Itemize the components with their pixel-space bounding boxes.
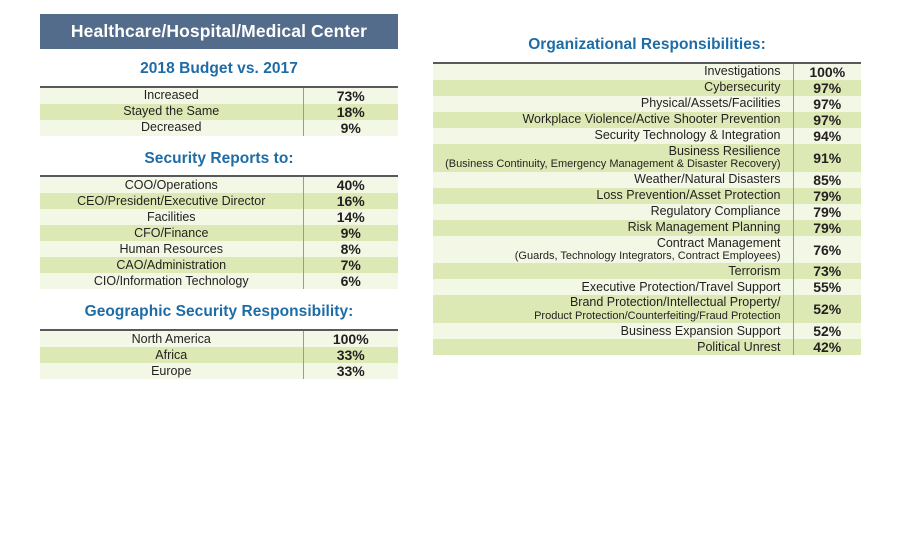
table-row: Workplace Violence/Active Shooter Preven… — [433, 112, 861, 128]
table-row: Executive Protection/Travel Support55% — [433, 279, 861, 295]
row-label-subtext: (Guards, Technology Integrators, Contrac… — [433, 250, 781, 263]
row-value: 7% — [303, 257, 398, 273]
row-label-text: Increased — [144, 88, 199, 102]
row-value: 9% — [303, 225, 398, 241]
row-value: 52% — [793, 323, 861, 339]
row-label-text: Loss Prevention/Asset Protection — [596, 188, 780, 202]
row-label: Weather/Natural Disasters — [433, 172, 793, 188]
row-value: 73% — [793, 263, 861, 279]
row-label-text: Business Resilience — [669, 144, 781, 158]
data-table: North America100%Africa33%Europe33% — [40, 329, 398, 379]
row-label: Cybersecurity — [433, 80, 793, 96]
row-value: 55% — [793, 279, 861, 295]
right-column: Organizational Responsibilities:Investig… — [433, 22, 861, 355]
row-label: Political Unrest — [433, 339, 793, 355]
row-value: 33% — [303, 347, 398, 363]
table-row: Brand Protection/Intellectual Property/P… — [433, 295, 861, 323]
row-label-text: Africa — [155, 348, 187, 362]
section: 2018 Budget vs. 2017Increased73%Stayed t… — [40, 60, 398, 136]
table-row: Human Resources8% — [40, 241, 398, 257]
row-label-text: Investigations — [704, 64, 780, 78]
table-row: Risk Management Planning79% — [433, 220, 861, 236]
row-label: Executive Protection/Travel Support — [433, 279, 793, 295]
row-label: North America — [40, 330, 303, 347]
row-label: Facilities — [40, 209, 303, 225]
row-value: 40% — [303, 176, 398, 193]
row-label: CEO/President/Executive Director — [40, 193, 303, 209]
table-row: CFO/Finance9% — [40, 225, 398, 241]
table-row: Stayed the Same18% — [40, 104, 398, 120]
row-label-text: Contract Management — [657, 236, 781, 250]
row-label: Physical/Assets/Facilities — [433, 96, 793, 112]
row-label-text: COO/Operations — [125, 178, 218, 192]
row-value: 91% — [793, 144, 861, 172]
row-value: 79% — [793, 188, 861, 204]
row-label-text: Physical/Assets/Facilities — [641, 96, 781, 110]
row-label: Business Resilience(Business Continuity,… — [433, 144, 793, 172]
table-row: Business Resilience(Business Continuity,… — [433, 144, 861, 172]
table-row: North America100% — [40, 330, 398, 347]
table-row: CAO/Administration7% — [40, 257, 398, 273]
row-label: Europe — [40, 363, 303, 379]
section: Organizational Responsibilities:Investig… — [433, 36, 861, 355]
row-value: 6% — [303, 273, 398, 289]
section-heading: Organizational Responsibilities: — [433, 36, 861, 55]
row-value: 52% — [793, 295, 861, 323]
row-value: 18% — [303, 104, 398, 120]
row-label: CAO/Administration — [40, 257, 303, 273]
row-label-text: CAO/Administration — [116, 258, 226, 272]
right-sections-container: Organizational Responsibilities:Investig… — [433, 36, 861, 355]
row-label: Terrorism — [433, 263, 793, 279]
row-value: 16% — [303, 193, 398, 209]
table-row: Europe33% — [40, 363, 398, 379]
row-label-text: Workplace Violence/Active Shooter Preven… — [522, 112, 780, 126]
row-label: Investigations — [433, 63, 793, 80]
section: Security Reports to:COO/Operations40%CEO… — [40, 150, 398, 290]
table-row: CEO/President/Executive Director16% — [40, 193, 398, 209]
row-label-text: Europe — [151, 364, 191, 378]
row-value: 8% — [303, 241, 398, 257]
row-value: 97% — [793, 96, 861, 112]
table-row: CIO/Information Technology6% — [40, 273, 398, 289]
left-sections-container: 2018 Budget vs. 2017Increased73%Stayed t… — [40, 60, 398, 379]
table-row: Loss Prevention/Asset Protection79% — [433, 188, 861, 204]
row-value: 94% — [793, 128, 861, 144]
row-label-text: Human Resources — [119, 242, 223, 256]
row-label-text: CIO/Information Technology — [94, 274, 249, 288]
row-label-text: Political Unrest — [697, 340, 780, 354]
row-label: Regulatory Compliance — [433, 204, 793, 220]
table-row: Political Unrest42% — [433, 339, 861, 355]
row-label-text: CFO/Finance — [134, 226, 208, 240]
row-label-text: Facilities — [147, 210, 196, 224]
row-label: Risk Management Planning — [433, 220, 793, 236]
table-row: Weather/Natural Disasters85% — [433, 172, 861, 188]
data-table: COO/Operations40%CEO/President/Executive… — [40, 175, 398, 289]
table-row: Africa33% — [40, 347, 398, 363]
data-table: Investigations100%Cybersecurity97%Physic… — [433, 62, 861, 356]
row-label-text: Stayed the Same — [123, 104, 219, 118]
row-label-text: Weather/Natural Disasters — [634, 172, 780, 186]
table-row: Business Expansion Support52% — [433, 323, 861, 339]
section-heading: 2018 Budget vs. 2017 — [40, 60, 398, 79]
section-heading: Security Reports to: — [40, 150, 398, 169]
row-value: 100% — [793, 63, 861, 80]
row-label-subtext: (Business Continuity, Emergency Manageme… — [433, 158, 781, 171]
row-value: 85% — [793, 172, 861, 188]
row-label-text: CEO/President/Executive Director — [77, 194, 265, 208]
row-label-text: Cybersecurity — [704, 80, 780, 94]
row-label: COO/Operations — [40, 176, 303, 193]
row-label-text: Brand Protection/Intellectual Property/ — [570, 295, 781, 309]
row-label-text: Risk Management Planning — [628, 220, 781, 234]
table-row: Cybersecurity97% — [433, 80, 861, 96]
row-value: 79% — [793, 204, 861, 220]
row-label: Business Expansion Support — [433, 323, 793, 339]
row-value: 73% — [303, 87, 398, 104]
row-value: 9% — [303, 120, 398, 136]
section-heading: Geographic Security Responsibility: — [40, 303, 398, 322]
row-label: Security Technology & Integration — [433, 128, 793, 144]
table-row: Increased73% — [40, 87, 398, 104]
row-label-text: North America — [132, 332, 211, 346]
row-value: 97% — [793, 112, 861, 128]
row-label-text: Decreased — [141, 120, 201, 134]
row-label: CFO/Finance — [40, 225, 303, 241]
table-row: COO/Operations40% — [40, 176, 398, 193]
row-value: 100% — [303, 330, 398, 347]
table-row: Physical/Assets/Facilities97% — [433, 96, 861, 112]
table-row: Facilities14% — [40, 209, 398, 225]
banner-title: Healthcare/Hospital/Medical Center — [40, 14, 398, 49]
row-label: Contract Management(Guards, Technology I… — [433, 236, 793, 264]
table-row: Contract Management(Guards, Technology I… — [433, 236, 861, 264]
section: Geographic Security Responsibility:North… — [40, 303, 398, 379]
row-label-text: Regulatory Compliance — [651, 204, 781, 218]
row-label: Africa — [40, 347, 303, 363]
row-label: Stayed the Same — [40, 104, 303, 120]
row-label: Brand Protection/Intellectual Property/P… — [433, 295, 793, 323]
table-row: Decreased9% — [40, 120, 398, 136]
data-table: Increased73%Stayed the Same18%Decreased9… — [40, 86, 398, 136]
row-label-text: Security Technology & Integration — [595, 128, 781, 142]
table-row: Security Technology & Integration94% — [433, 128, 861, 144]
row-value: 79% — [793, 220, 861, 236]
row-value: 76% — [793, 236, 861, 264]
row-label-text: Business Expansion Support — [621, 324, 781, 338]
table-row: Investigations100% — [433, 63, 861, 80]
row-label: Workplace Violence/Active Shooter Preven… — [433, 112, 793, 128]
row-label: CIO/Information Technology — [40, 273, 303, 289]
row-label-text: Terrorism — [728, 264, 780, 278]
row-value: 97% — [793, 80, 861, 96]
left-column: Healthcare/Hospital/Medical Center 2018 … — [40, 14, 398, 379]
table-row: Regulatory Compliance79% — [433, 204, 861, 220]
row-label: Human Resources — [40, 241, 303, 257]
row-value: 42% — [793, 339, 861, 355]
row-value: 33% — [303, 363, 398, 379]
row-label-text: Executive Protection/Travel Support — [582, 280, 781, 294]
infographic-page: Healthcare/Hospital/Medical Center 2018 … — [0, 0, 900, 550]
row-label-subtext: Product Protection/Counterfeiting/Fraud … — [433, 310, 781, 323]
table-row: Terrorism73% — [433, 263, 861, 279]
row-value: 14% — [303, 209, 398, 225]
row-label: Loss Prevention/Asset Protection — [433, 188, 793, 204]
row-label: Increased — [40, 87, 303, 104]
row-label: Decreased — [40, 120, 303, 136]
